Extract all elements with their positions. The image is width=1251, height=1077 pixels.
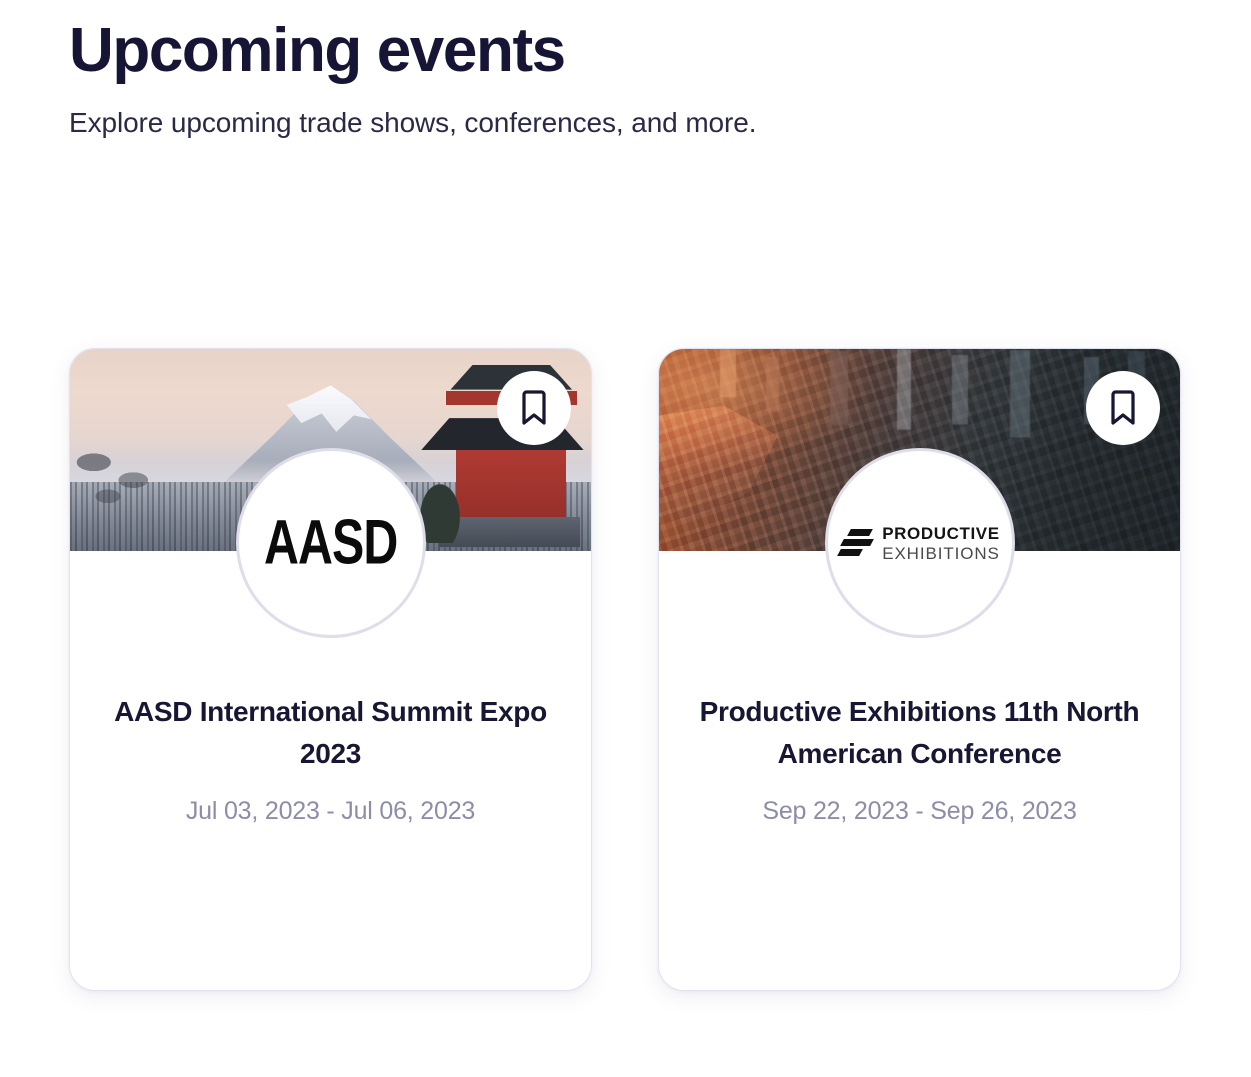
city-sunset-glow-layer [659,349,867,470]
organizer-logo-text-secondary: EXHIBITIONS [882,545,1000,562]
event-dates: Sep 22, 2023 - Sep 26, 2023 [687,794,1152,828]
event-card-productive-exhibitions[interactable]: PRODUCTIVE EXHIBITIONS Productive Exhibi… [658,348,1181,991]
productive-exhibitions-wordmark: PRODUCTIVE EXHIBITIONS [882,525,1000,562]
bookmark-button-productive-exhibitions[interactable] [1086,371,1160,445]
organizer-logo-productive-exhibitions: PRODUCTIVE EXHIBITIONS [825,448,1015,638]
organizer-logo-aasd: AASD [236,448,426,638]
page-header: Upcoming events Explore upcoming trade s… [69,14,1169,142]
productive-exhibitions-mark-icon [839,528,873,558]
upcoming-events-page: Upcoming events Explore upcoming trade s… [0,0,1251,1077]
event-card-aasd[interactable]: AASD AASD International Summit Expo 2023… [69,348,592,991]
events-card-grid: AASD AASD International Summit Expo 2023… [69,348,1181,991]
bookmark-icon [1108,390,1138,426]
bookmark-icon [519,390,549,426]
fuji-foliage-layer [75,438,169,519]
organizer-logo-text: PRODUCTIVE [882,525,1000,542]
organizer-logo-text: AASD [264,511,397,574]
event-title: Productive Exhibitions 11th North Americ… [687,691,1152,775]
pagoda-body [456,450,566,518]
productive-exhibitions-logo: PRODUCTIVE EXHIBITIONS [839,525,1000,562]
page-title: Upcoming events [69,14,1169,88]
mark-bar-middle [840,539,874,546]
event-title: AASD International Summit Expo 2023 [98,691,563,775]
mark-bar-top [847,529,873,536]
event-dates: Jul 03, 2023 - Jul 06, 2023 [98,794,563,828]
page-subtitle: Explore upcoming trade shows, conference… [69,104,1169,142]
mark-bar-bottom [837,549,863,556]
bookmark-button-aasd[interactable] [497,371,571,445]
